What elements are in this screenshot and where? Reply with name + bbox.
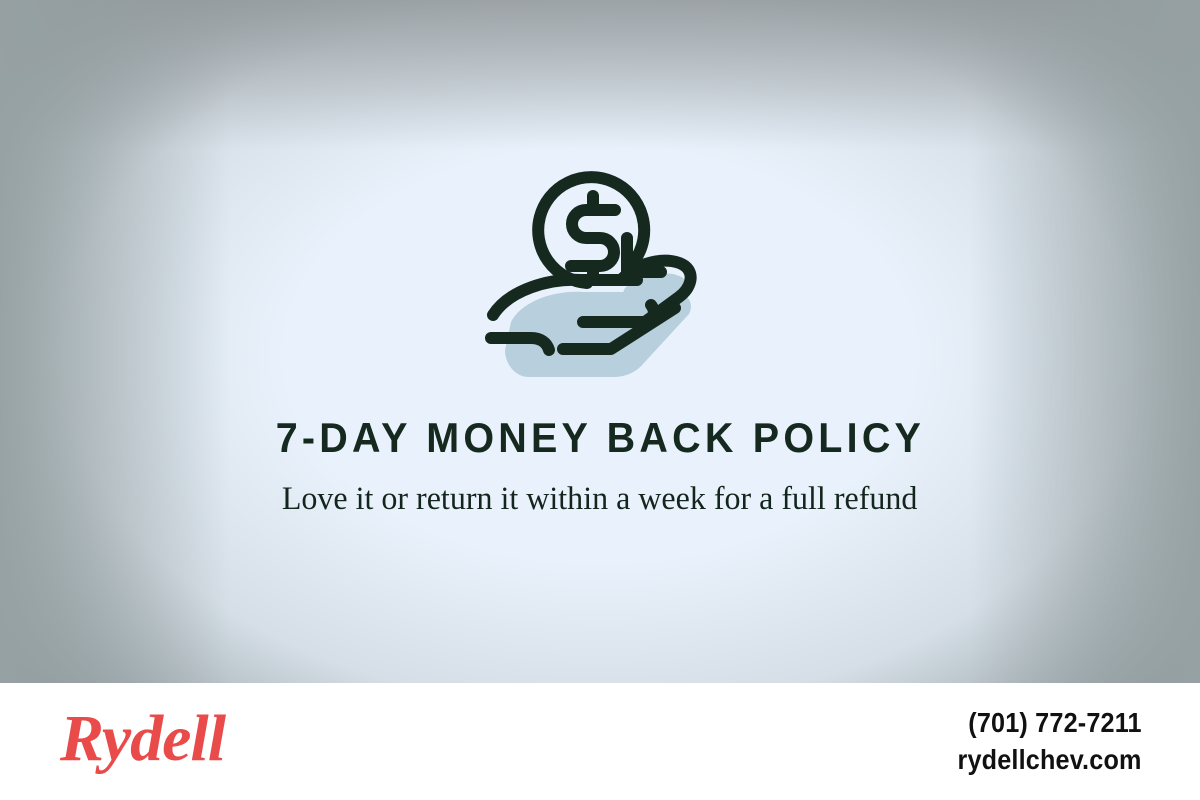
hero-content: 7-DAY MONEY BACK POLICY Love it or retur… <box>0 0 1200 683</box>
dollar-sign-icon <box>571 196 615 280</box>
footer-bar: Rydell (701) 772-7211 rydellchev.com <box>0 683 1200 800</box>
money-back-hand-icon <box>475 150 725 390</box>
phone-number[interactable]: (701) 772-7211 <box>969 706 1142 740</box>
brand-logo-rydell[interactable]: Rydell <box>60 706 225 772</box>
contact-block: (701) 772-7211 rydellchev.com <box>937 706 1142 776</box>
hero-panel: 7-DAY MONEY BACK POLICY Love it or retur… <box>0 0 1200 683</box>
website-url[interactable]: rydellchev.com <box>958 743 1142 777</box>
page-title: 7-DAY MONEY BACK POLICY <box>275 414 924 462</box>
hero-subtitle: Love it or return it within a week for a… <box>282 478 918 520</box>
promo-banner: 7-DAY MONEY BACK POLICY Love it or retur… <box>0 0 1200 800</box>
